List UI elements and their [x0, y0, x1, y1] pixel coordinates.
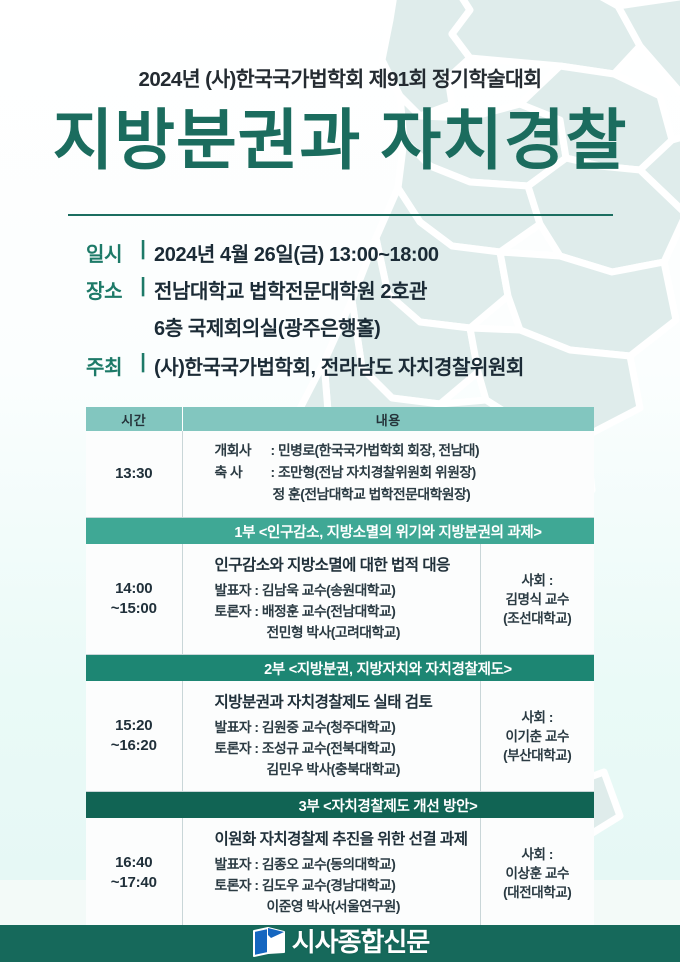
- schedule-table: 시간 내용 13:30 개회사: 민병로(한국국가법학회 회장, 전남대) 축 …: [86, 407, 594, 929]
- session-bar-2-label: 2부 <지방분권, 지방자치와 자치경찰제도>: [86, 655, 594, 682]
- session-1-presenter: 발표자 : 김남욱 교수(송원대학교): [215, 580, 480, 601]
- title-divider: [68, 214, 613, 216]
- info-row-host: 주최 | (사)한국국가법학회, 전라남도 자치경찰위원회: [86, 351, 524, 380]
- table-row: 15:20 ~16:20 지방분권과 자치경찰제도 실태 검토 발표자 : 김원…: [86, 681, 594, 792]
- info-label-host: 주최: [86, 351, 132, 380]
- session-3-talk-title: 이원화 자치경찰제 추진을 위한 선결 과제: [215, 827, 480, 849]
- info-row-date: 일시 | 2024년 4월 26일(금) 13:00~18:00: [86, 238, 524, 267]
- session-3-time: 16:40 ~17:40: [86, 818, 182, 929]
- session-2-chair: 사회 : 이기춘 교수 (부산대학교): [480, 681, 594, 792]
- session-bar-2: 2부 <지방분권, 지방자치와 자치경찰제도>: [86, 655, 594, 682]
- opening-time: 13:30: [86, 431, 182, 518]
- opening-label-2: 축 사: [215, 462, 271, 484]
- session-bar-3: 3부 <자치경찰제도 개선 방안>: [86, 792, 594, 819]
- opening-sep-1: :: [271, 443, 275, 458]
- session-bar-3-label: 3부 <자치경찰제도 개선 방안>: [86, 792, 594, 819]
- info-value-venue-line2: 6층 국제회의실(광주은행홀): [154, 312, 524, 341]
- table-row: 16:40 ~17:40 이원화 자치경찰제 추진을 위한 선결 과제 발표자 …: [86, 818, 594, 929]
- session-2-presenter: 발표자 : 김원중 교수(청주대학교): [215, 717, 480, 738]
- session-2-discussant-1: 토론자 : 조성규 교수(전북대학교): [215, 738, 480, 759]
- info-label-date: 일시: [86, 238, 132, 267]
- open-book-icon: [251, 926, 287, 958]
- session-2-talk-title: 지방분권과 자치경찰제도 실태 검토: [215, 690, 480, 712]
- info-label-venue: 장소: [86, 275, 132, 304]
- opening-text-2: 조만형(전남 자치경찰위원회 위원장): [278, 465, 476, 480]
- opening-text-3: 정 훈(전남대학교 법학전문대학원장): [273, 487, 471, 502]
- info-separator-date: |: [132, 238, 154, 261]
- header-time: 시간: [86, 407, 182, 431]
- session-1-content: 인구감소와 지방소멸에 대한 법적 대응 발표자 : 김남욱 교수(송원대학교)…: [182, 544, 480, 655]
- info-separator-venue: |: [132, 275, 154, 298]
- schedule-header-row: 시간 내용: [86, 407, 594, 431]
- poster-subtitle: 2024년 (사)한국국가법학회 제91회 정기학술대회: [0, 62, 680, 92]
- table-row: 14:00 ~15:00 인구감소와 지방소멸에 대한 법적 대응 발표자 : …: [86, 544, 594, 655]
- table-row: 13:30 개회사: 민병로(한국국가법학회 회장, 전남대) 축 사: 조만형…: [86, 431, 594, 518]
- session-3-presenter: 발표자 : 김종오 교수(동의대학교): [215, 854, 480, 875]
- session-1-discussant-2: 전민형 박사(고려대학교): [215, 622, 480, 643]
- session-2-content: 지방분권과 자치경찰제도 실태 검토 발표자 : 김원중 교수(청주대학교) 토…: [182, 681, 480, 792]
- session-3-discussant-2: 이준영 박사(서울연구원): [215, 896, 480, 917]
- footer-logo-text: 시사종합신문: [292, 927, 430, 957]
- opening-text-1: 민병로(한국국가법학회 회장, 전남대): [278, 443, 479, 458]
- footer-logo: 시사종합신문: [0, 926, 680, 958]
- opening-label-1: 개회사: [215, 440, 271, 462]
- opening-line-2: 축 사: 조만형(전남 자치경찰위원회 위원장): [215, 462, 595, 484]
- opening-sep-2: :: [271, 465, 275, 480]
- info-value-venue: 전남대학교 법학전문대학원 2호관: [154, 275, 427, 304]
- header-content: 내용: [182, 407, 594, 431]
- session-1-time: 14:00 ~15:00: [86, 544, 182, 655]
- session-3-discussant-1: 토론자 : 김도우 교수(경남대학교): [215, 875, 480, 896]
- session-bar-1-label: 1부 <인구감소, 지방소멸의 위기와 지방분권의 과제>: [86, 518, 594, 545]
- session-2-discussant-2: 김민우 박사(충북대학교): [215, 759, 480, 780]
- conference-poster: 2024년 (사)한국국가법학회 제91회 정기학술대회 지방분권과 자치경찰 …: [0, 0, 680, 962]
- session-3-chair: 사회 : 이상훈 교수 (대전대학교): [480, 818, 594, 929]
- session-bar-1: 1부 <인구감소, 지방소멸의 위기와 지방분권의 과제>: [86, 518, 594, 545]
- poster-title: 지방분권과 자치경찰: [0, 100, 680, 180]
- session-2-time: 15:20 ~16:20: [86, 681, 182, 792]
- session-3-content: 이원화 자치경찰제 추진을 위한 선결 과제 발표자 : 김종오 교수(동의대학…: [182, 818, 480, 929]
- session-1-chair: 사회 : 김명식 교수 (조선대학교): [480, 544, 594, 655]
- opening-content: 개회사: 민병로(한국국가법학회 회장, 전남대) 축 사: 조만형(전남 자치…: [182, 431, 594, 518]
- info-separator-host: |: [132, 351, 154, 374]
- session-1-talk-title: 인구감소와 지방소멸에 대한 법적 대응: [215, 553, 480, 575]
- opening-line-1: 개회사: 민병로(한국국가법학회 회장, 전남대): [215, 440, 595, 462]
- info-row-venue: 장소 | 전남대학교 법학전문대학원 2호관: [86, 275, 524, 304]
- info-value-date: 2024년 4월 26일(금) 13:00~18:00: [154, 238, 439, 267]
- event-info-block: 일시 | 2024년 4월 26일(금) 13:00~18:00 장소 | 전남…: [86, 238, 524, 388]
- info-value-host: (사)한국국가법학회, 전라남도 자치경찰위원회: [154, 351, 524, 380]
- opening-line-3: 정 훈(전남대학교 법학전문대학원장): [215, 484, 595, 506]
- session-1-discussant-1: 토론자 : 배정훈 교수(전남대학교): [215, 601, 480, 622]
